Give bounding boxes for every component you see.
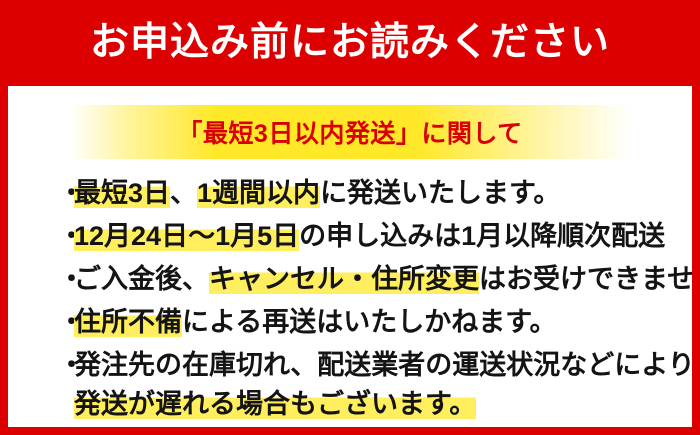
- subtitle: 「最短3日以内発送」に関して: [8, 105, 692, 159]
- bullet-marker: ・: [58, 174, 74, 213]
- list-item-body: 最短3日、1週間以内に発送いたします。: [74, 174, 688, 213]
- notice-list: ・最短3日、1週間以内に発送いたします。・12月24日〜1月5日の申し込みは1月…: [58, 174, 688, 427]
- list-item: ・ご入金後、キャンセル・住所変更はお受けできません。: [58, 260, 688, 299]
- list-item: ・最短3日、1週間以内に発送いたします。: [58, 174, 688, 213]
- list-item-line: 発注先の在庫切れ、配送業者の運送状況などにより: [74, 346, 692, 385]
- list-item-body: 住所不備による再送はいたしかねます。: [74, 303, 688, 342]
- page-title: お申込み前にお読みください: [90, 23, 610, 62]
- subtitle-section: 「最短3日以内発送」に関して: [8, 105, 692, 159]
- highlighted-text: キャンセル・住所変更: [209, 264, 479, 294]
- plain-text: ご入金後、: [74, 264, 209, 294]
- bullet-marker: ・: [58, 346, 74, 385]
- plain-text: の申し込みは1月以降順次配送: [299, 221, 665, 251]
- plain-text: に発送いたします。: [320, 178, 560, 208]
- list-item: ・発注先の在庫切れ、配送業者の運送状況などにより発送が遅れる場合もございます。: [58, 346, 688, 424]
- list-item-line: 最短3日、1週間以内に発送いたします。: [74, 174, 688, 213]
- highlighted-text: 住所不備: [74, 307, 182, 337]
- highlighted-text: 最短3日: [74, 178, 170, 208]
- plain-text: はお受けできません。: [479, 264, 692, 294]
- bullet-marker: ・: [58, 217, 74, 256]
- banner-header: お申込み前にお読みください: [0, 0, 700, 86]
- list-item-line: ご入金後、キャンセル・住所変更はお受けできません。: [74, 260, 692, 299]
- bullet-marker: ・: [58, 260, 74, 299]
- highlighted-text: 1週間以内: [197, 178, 320, 208]
- list-item-line: 発送が遅れる場合もございます。: [74, 385, 692, 424]
- list-item-body: ご入金後、キャンセル・住所変更はお受けできません。: [74, 260, 692, 299]
- list-item: ・12月24日〜1月5日の申し込みは1月以降順次配送: [58, 217, 688, 256]
- bullet-marker: ・: [58, 303, 74, 342]
- plain-text: 、: [170, 178, 197, 208]
- notice-card: 「最短3日以内発送」に関して ・最短3日、1週間以内に発送いたします。・12月2…: [8, 86, 692, 427]
- list-item-body: 発注先の在庫切れ、配送業者の運送状況などにより発送が遅れる場合もございます。: [74, 346, 692, 424]
- highlighted-text: 発送が遅れる場合もございます。: [74, 389, 476, 419]
- list-item-line: 12月24日〜1月5日の申し込みは1月以降順次配送: [74, 217, 688, 256]
- list-item-line: 住所不備による再送はいたしかねます。: [74, 303, 688, 342]
- list-item: ・住所不備による再送はいたしかねます。: [58, 303, 688, 342]
- plain-text: 発注先の在庫切れ、配送業者の運送状況などにより: [74, 350, 692, 380]
- plain-text: による再送はいたしかねます。: [182, 307, 557, 337]
- list-item-body: 12月24日〜1月5日の申し込みは1月以降順次配送: [74, 217, 688, 256]
- notice-banner: お申込み前にお読みください 「最短3日以内発送」に関して ・最短3日、1週間以内…: [0, 0, 700, 435]
- highlighted-text: 12月24日〜1月5日: [74, 221, 299, 251]
